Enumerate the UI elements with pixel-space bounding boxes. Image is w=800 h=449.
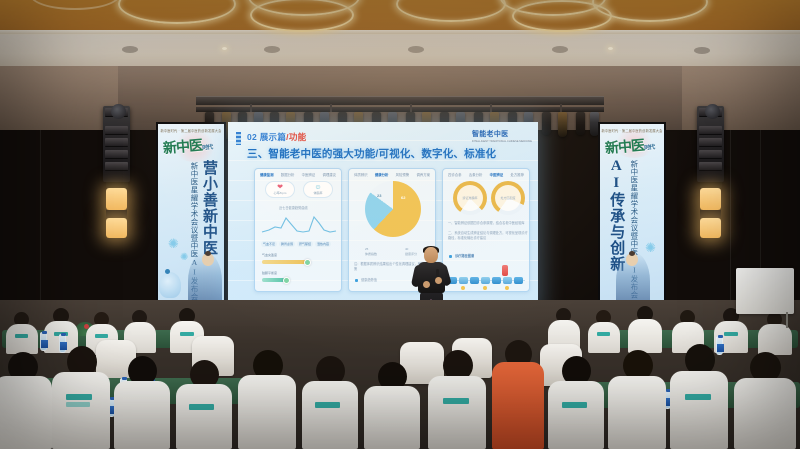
flow-node-3[interactable] [481, 277, 490, 284]
audience-torso [758, 324, 792, 355]
stage-light [542, 112, 551, 135]
ceiling-vent [408, 46, 424, 53]
conference-hall-photo: 新中医时代 · 第二届中医药创新发展大会 新中医时代 营小善新中医 新中医星耀学… [0, 0, 800, 449]
audience-torso [114, 381, 170, 449]
slide-kicker-main: 展示篇 [260, 132, 286, 142]
panel1-slider1-label: 脏腑平衡度 [262, 271, 277, 275]
wall-sconce-left [106, 188, 127, 210]
panel3-tab-2[interactable]: 中医辨证 [490, 172, 504, 177]
panel3-tab-3[interactable]: 处方推荐 [510, 172, 524, 177]
metric-pill-heart-rate[interactable]: ❤ 心率/bpm [265, 181, 295, 198]
ceiling-downlight [222, 47, 227, 50]
panel1-pill1-label: 体脂率 [313, 191, 322, 195]
sconce-divider [700, 210, 721, 218]
flow-node-2[interactable] [470, 277, 479, 284]
banner-left-brand-cn: 新中医 [162, 137, 202, 156]
panel1-chip-1[interactable]: 脾胃虚弱 [279, 241, 295, 247]
ceiling-trim-line [0, 34, 800, 35]
panel1-tab-2[interactable]: 中医辨证 [302, 172, 316, 177]
slide-kicker-accent: 功能 [289, 132, 307, 142]
panel3-tab-1[interactable]: 舌象分析 [469, 172, 483, 177]
slide-kicker-number: 02 [247, 132, 257, 142]
audience-member [6, 312, 38, 352]
truss-brace [410, 104, 412, 112]
audience-member-foreground [364, 362, 420, 449]
legend-marker [355, 279, 358, 282]
audience-member-foreground [670, 344, 728, 449]
shirt-logo [66, 394, 92, 400]
slide-kicker: 02 展示篇/功能 [247, 131, 306, 143]
audience-torso [548, 381, 604, 449]
shirt-logo [15, 334, 28, 338]
audience-member-foreground [492, 340, 544, 449]
audience-member-foreground [0, 352, 52, 449]
shirt-logo [189, 404, 214, 410]
slide-brand-logo: 智能老中医 INTELLIGENT TRADITIONAL CHINESE ME… [472, 129, 532, 143]
panel1-chart-caption: 近七日健康趋势曲线 [279, 205, 308, 210]
banner-left-brand-small: 时代 [202, 145, 213, 152]
gauge-prescription-match: 处方匹配度 [491, 181, 525, 215]
audience-member [588, 310, 620, 352]
panel2-legend: 健康趋势值 [361, 277, 377, 282]
gauge-prescription-label: 处方匹配度 [495, 185, 521, 211]
audience-torso [364, 386, 420, 449]
panel1-chip-row: 气血不足脾胃虚弱肝气郁结湿热内蕴 [261, 241, 333, 247]
wall-seam [730, 130, 731, 305]
flow-highlight-marker [502, 265, 508, 276]
health-trend-line-chart [261, 212, 337, 238]
audience-torso [628, 319, 662, 353]
panel2-tab-2[interactable]: 风险预警 [396, 172, 410, 177]
shirt-logo [180, 332, 194, 336]
flow-node-1[interactable] [459, 277, 468, 284]
shirt-logo [597, 332, 610, 336]
shirt-logo [685, 394, 711, 400]
audience-torso [0, 376, 52, 449]
slide-accent-bar [236, 132, 241, 145]
sage-hair-bun [629, 251, 635, 256]
panel3-section-label: 诊疗路径图谱 [455, 253, 474, 258]
whiteboard-leg [786, 312, 788, 328]
gauge-accuracy: 辨证准确率 [453, 181, 487, 215]
gauge-accuracy-label: 辨证准确率 [457, 185, 483, 211]
slide-headline: 三、智能老中医的强大功能/可视化、数字化、标准化 [247, 146, 496, 161]
panel2-tabs[interactable]: 体质辨识 健康分析 风险预警 调养方案 [354, 172, 430, 177]
panel1-slider0-label: 气血充盈度 [262, 253, 277, 257]
ceiling-vent [122, 46, 138, 53]
panel1-chip-2[interactable]: 肝气郁结 [297, 241, 313, 247]
truss-brace [490, 104, 492, 112]
slide-brand-logo-sub: INTELLIGENT TRADITIONAL CHINESE MEDICINE [472, 140, 532, 143]
presenter-right-hand [435, 277, 442, 284]
line-array-speaker-left [103, 106, 130, 182]
pie-slice-label-1: 23 [377, 193, 381, 198]
audience-torso [670, 371, 728, 449]
panel3-note-1: 二、系统自动生成辨证结论与调理处方，可视化呈现诊疗路径，标准化输出诊疗建议 [448, 231, 528, 241]
audience-torso [588, 322, 620, 353]
flow-node-6[interactable] [514, 277, 523, 284]
panel3-note-0: 一、智能辨证依据四诊合参原理，结合名老中医经验库 [448, 221, 528, 226]
panel1-pill0-label: 心率/bpm [274, 191, 287, 195]
audience-member-foreground [608, 350, 666, 449]
pie-slice-label-0: 62 [401, 195, 405, 200]
banner-right-brand-cn: 新中医 [604, 137, 644, 156]
ceiling-flat [0, 35, 800, 66]
metric0-label: 体质指数 [365, 252, 377, 256]
ceiling [0, 0, 800, 66]
audience-member-foreground [52, 346, 110, 449]
heart-icon: ❤ [277, 184, 283, 191]
banner-left-brandmark: 新中医时代 [162, 134, 213, 158]
ceiling-vent [552, 46, 568, 53]
banner-left: 新中医时代 · 第二届中医药创新发展大会 新中医时代 营小善新中医 新中医星耀学… [156, 122, 226, 312]
water-bottle [40, 332, 47, 351]
panel1-tab-3[interactable]: 调理建议 [322, 172, 336, 177]
slide-brand-logo-text: 智能老中医 [472, 131, 509, 138]
constitution-pie-chart [365, 181, 421, 237]
dashboard-panel-health-monitor[interactable]: 健康监测 数据分析 中医辨证 调理建议 ❤ 心率/bpm ☺ 体脂率 近七日健康… [254, 168, 342, 292]
flow-milestone [483, 286, 487, 290]
stage-light [576, 112, 585, 135]
panel3-tabs[interactable]: 四诊合参 舌象分析 中医辨证 处方推荐 [448, 172, 524, 177]
audience-torso [492, 362, 544, 449]
wall-sconce-left-lower [106, 218, 127, 238]
slider-qixue[interactable] [262, 260, 336, 264]
audience-member-foreground [302, 356, 358, 449]
metric-pill-body-fat[interactable]: ☺ 体脂率 [303, 181, 333, 198]
ai-robot-icon [159, 272, 181, 298]
dashboard-panel-tcm-diagnosis[interactable]: 四诊合参 舌象分析 中医辨证 处方推荐 辨证准确率 处方匹配度 一、智能辨证依据… [442, 168, 530, 292]
wall-sconce-right [700, 188, 721, 210]
flow-node-5[interactable] [503, 277, 512, 284]
panel2-tab-3[interactable]: 调养方案 [416, 172, 430, 177]
slider-zangfu[interactable] [262, 278, 336, 282]
truss-brace [330, 104, 332, 112]
audience-member-foreground [428, 350, 486, 449]
audience-torso [608, 376, 666, 449]
panel1-chip-3[interactable]: 湿热内蕴 [315, 241, 331, 247]
panel2-tab-0[interactable]: 体质辨识 [354, 172, 368, 177]
presenter-left-hand [423, 281, 430, 288]
audience-torso [176, 384, 232, 449]
shirt-logo [95, 334, 108, 338]
crane-icon: ✺ [645, 240, 656, 256]
stage-light [558, 112, 567, 137]
panel1-tab-0[interactable]: 健康监测 [260, 172, 274, 177]
audience-torso [734, 378, 796, 449]
flow-node-4[interactable] [492, 277, 501, 284]
shirt-logo [443, 398, 469, 404]
panel1-tab-1[interactable]: 数据分析 [281, 172, 295, 177]
panel3-tab-0[interactable]: 四诊合参 [448, 172, 462, 177]
audience-torso [6, 324, 38, 354]
ceiling-vent [264, 46, 280, 53]
audience-member [628, 306, 662, 352]
robot-eye [165, 269, 170, 274]
body-icon: ☺ [314, 184, 321, 191]
panel2-tab-1[interactable]: 健康分析 [375, 172, 389, 177]
led-presentation-screen[interactable]: 02 展示篇/功能 三、智能老中医的强大功能/可视化、数字化、标准化 智能老中医… [228, 122, 538, 312]
audience-torso [238, 375, 296, 449]
truss-brace [250, 104, 252, 112]
flow-milestone [505, 286, 509, 290]
audience-member-foreground [238, 350, 296, 449]
audience-torso [302, 381, 358, 449]
shirt-logo [724, 332, 738, 336]
metric0-value: 25 [365, 247, 368, 251]
wall-panel [0, 66, 118, 130]
panel1-tabs[interactable]: 健康监测 数据分析 中医辨证 调理建议 [260, 172, 336, 177]
sage-hair-bun [205, 251, 211, 256]
lighting-truss [196, 96, 604, 105]
metric-constitution-index: 25 体质指数 [365, 245, 377, 256]
wall-seam [40, 130, 41, 305]
ceiling-vent [694, 47, 710, 54]
audience-member-foreground [176, 360, 232, 449]
shirt-logo [562, 402, 587, 408]
presenter-head [424, 247, 438, 263]
metric1-value: 40 [405, 247, 408, 251]
banner-right-brandmark: 新中医时代 [604, 134, 655, 158]
flow-milestone [461, 286, 465, 290]
shirt-logo [315, 402, 340, 408]
panel1-chip-0[interactable]: 气血不足 [261, 241, 277, 247]
sconce-divider [106, 210, 127, 218]
audience-member-foreground [734, 352, 796, 449]
audience-torso [52, 372, 110, 449]
crane-icon: ✺ [168, 236, 179, 252]
ceiling-downlight [608, 47, 613, 50]
flipchart-whiteboard [736, 268, 794, 314]
banner-right-brand-small: 时代 [644, 145, 655, 152]
truss-brace [560, 104, 562, 112]
shirt-logo-secondary [66, 402, 90, 407]
banner-right: 新中医时代 · 第二届中医药创新发展大会 新中医时代 AI传承与创新 新中医星耀… [598, 122, 666, 312]
line-array-speaker-right [697, 106, 724, 182]
audience-torso [428, 376, 486, 449]
crane-icon: ✺ [180, 252, 188, 263]
audience-member-foreground [548, 356, 604, 449]
audience-member-foreground [114, 356, 170, 449]
wall-sconce-right-lower [700, 218, 721, 238]
